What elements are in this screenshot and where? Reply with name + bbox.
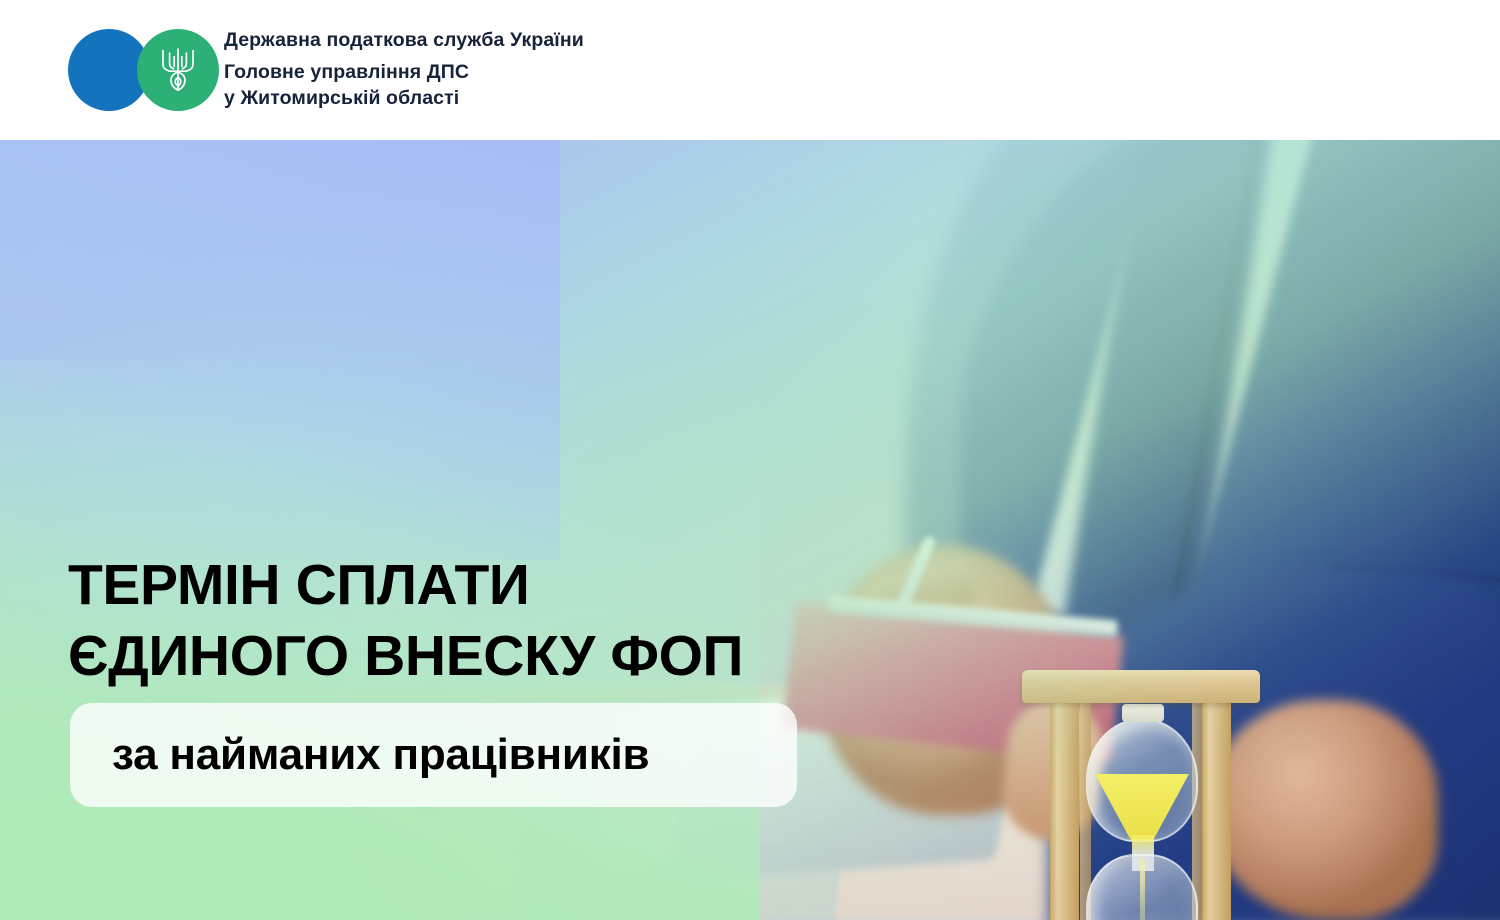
header-line-service-name: Державна податкова служба України [224, 28, 584, 54]
banner-image-area: ТЕРМІН СПЛАТИ ЄДИНОГО ВНЕСКУ ФОП за найм… [0, 140, 1500, 920]
header-line-region: у Житомирській області [224, 86, 584, 112]
page-title: ТЕРМІН СПЛАТИ ЄДИНОГО ВНЕСКУ ФОП [68, 552, 743, 689]
gradient-overlay-blue [0, 140, 560, 560]
tax-service-announcement-banner: Державна податкова служба України Головн… [0, 0, 1500, 920]
organization-header: Державна податкова служба України Головн… [0, 0, 1500, 140]
headline-line-1: ТЕРМІН СПЛАТИ [68, 552, 743, 619]
ukraine-trident-icon [137, 29, 219, 111]
header-line-department: Головне управління ДПС [224, 60, 584, 86]
dps-logo [68, 29, 208, 111]
subtitle-text: за найманих працівників [112, 730, 649, 780]
subtitle-pill: за найманих працівників [70, 703, 797, 807]
organization-name-block: Державна податкова служба України Головн… [224, 28, 584, 112]
headline-line-2: ЄДИНОГО ВНЕСКУ ФОП [68, 623, 743, 690]
